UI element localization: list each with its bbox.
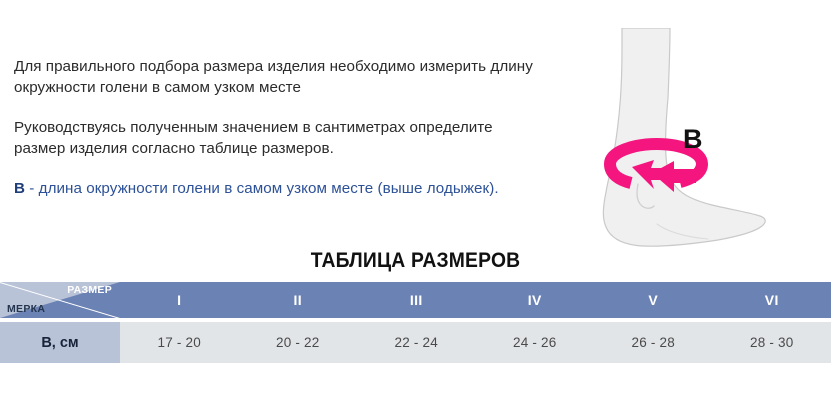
measurement-definition: В - длина окружности голени в самом узко… [14, 178, 544, 199]
table-row: В, см 17 - 20 20 - 22 22 - 24 24 - 26 26… [0, 322, 831, 363]
row-label-b-cm: В, см [0, 322, 120, 363]
measurement-b-label: B [683, 126, 703, 153]
instructions-block: Для правильного подбора размера изделия … [14, 56, 544, 199]
size-chart-page: Для правильного подбора размера изделия … [0, 0, 831, 415]
cell-size-1: 17 - 20 [120, 322, 239, 363]
cell-size-4: 24 - 26 [476, 322, 595, 363]
cell-size-6: 28 - 30 [713, 322, 831, 363]
cell-size-2: 20 - 22 [239, 322, 358, 363]
size-table-title: ТАБЛИЦА РАЗМЕРОВ [33, 249, 798, 273]
table-header-row: РАЗМЕР МЕРКА I II III IV V VI [0, 282, 831, 318]
column-header-4: IV [476, 282, 595, 318]
corner-row-axis-label: МЕРКА [7, 303, 45, 315]
instruction-paragraph-1: Для правильного подбора размера изделия … [14, 56, 544, 98]
leg-illustration [588, 28, 824, 260]
column-header-6: VI [713, 282, 831, 318]
size-table-wrapper: РАЗМЕР МЕРКА I II III IV V VI В, см 17 -… [0, 282, 831, 363]
column-header-1: I [120, 282, 239, 318]
table-corner-cell: РАЗМЕР МЕРКА [0, 282, 120, 318]
measurement-definition-text: - длина окружности голени в самом узком … [25, 180, 499, 197]
size-table: РАЗМЕР МЕРКА I II III IV V VI В, см 17 -… [0, 282, 831, 363]
measurement-marker-b: В [14, 180, 25, 197]
column-header-2: II [239, 282, 358, 318]
cell-size-5: 26 - 28 [594, 322, 713, 363]
instruction-paragraph-2: Руководствуясь полученным значением в са… [14, 117, 544, 159]
corner-column-axis-label: РАЗМЕР [67, 284, 112, 296]
column-header-5: V [594, 282, 713, 318]
cell-size-3: 22 - 24 [357, 322, 476, 363]
column-header-3: III [357, 282, 476, 318]
